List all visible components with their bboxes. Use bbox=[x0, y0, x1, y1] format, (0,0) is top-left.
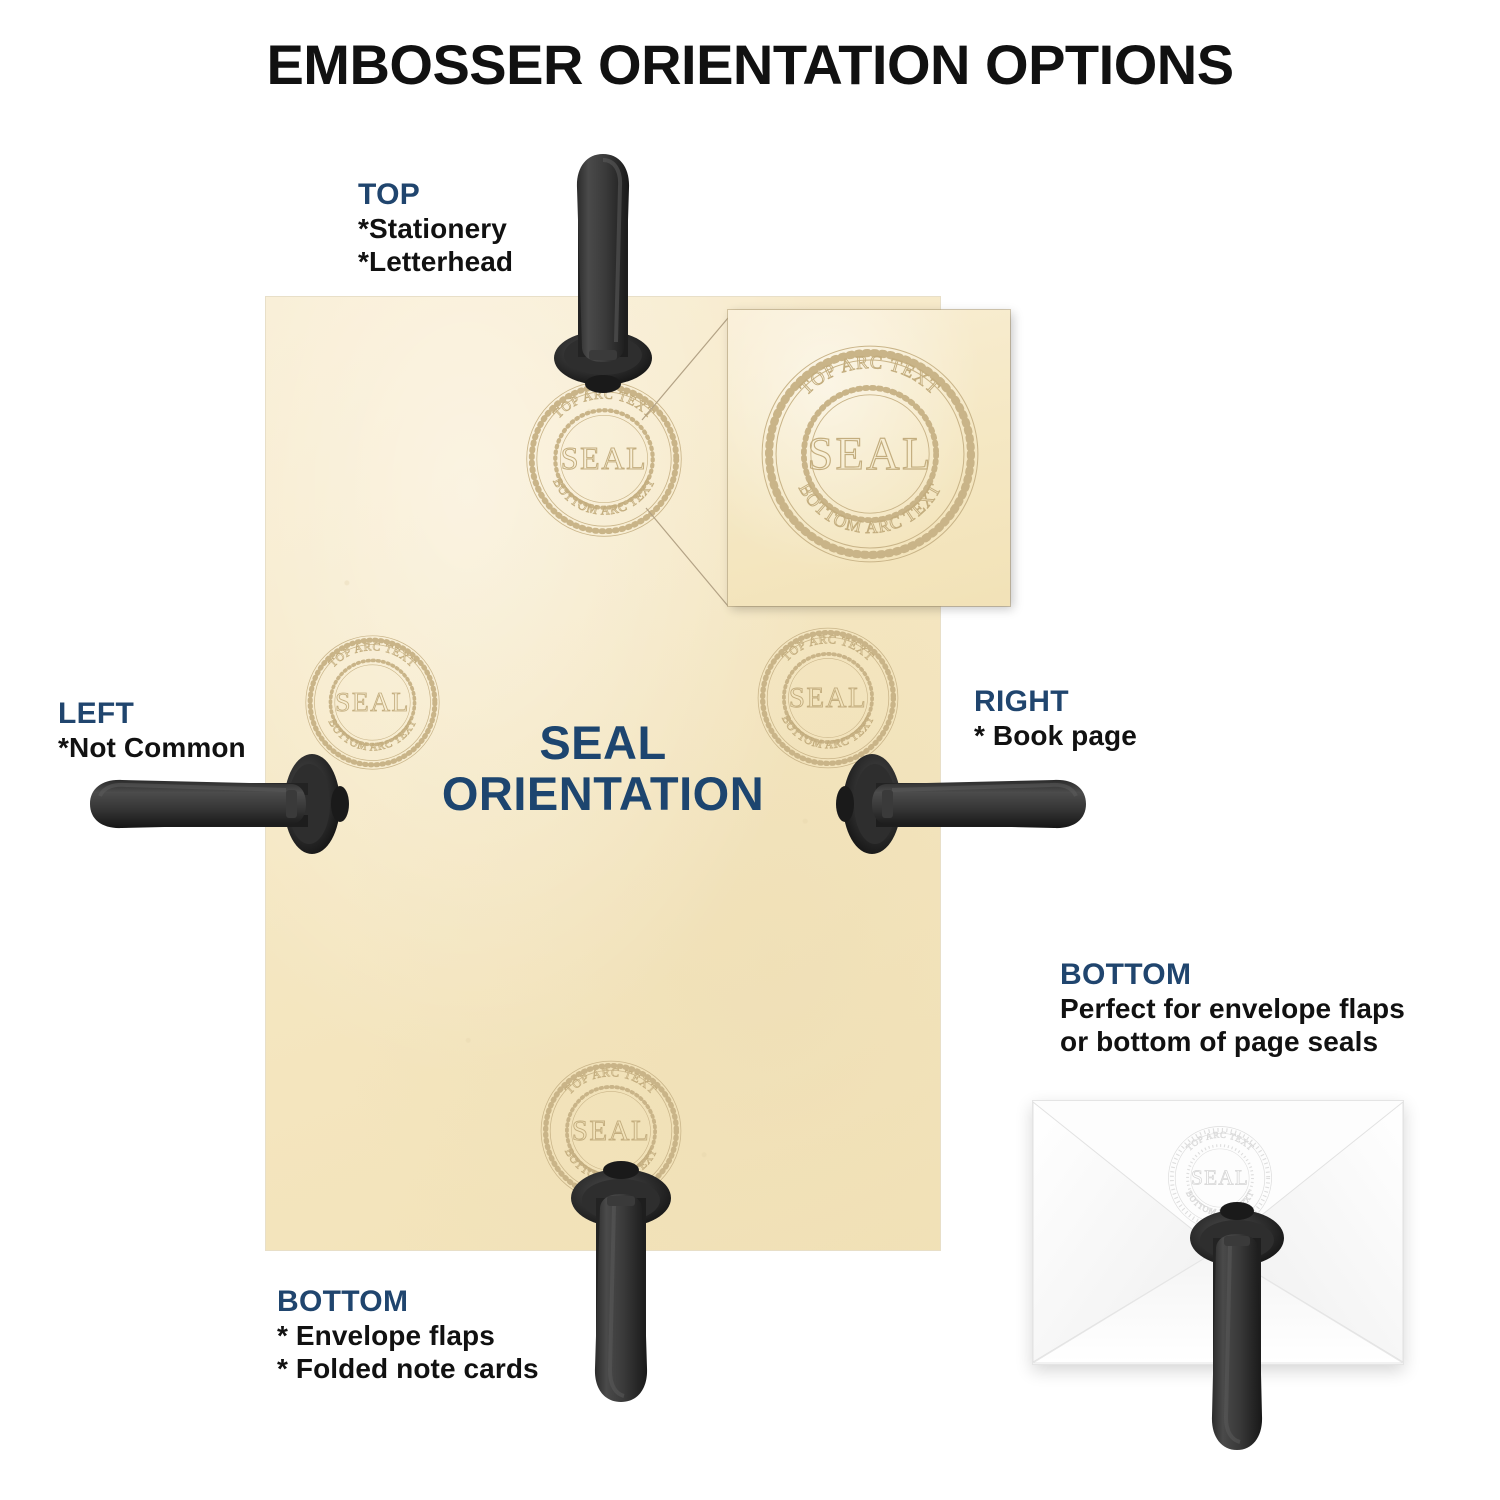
label-top-heading: TOP bbox=[358, 178, 513, 212]
infographic-canvas: EMBOSSER ORIENTATION OPTIONS TOP ARC TEX… bbox=[0, 0, 1500, 1500]
embosser-top[interactable] bbox=[544, 152, 662, 392]
seal-imprint-magnified: TOP ARC TEXT BOTTOM ARC TEXT SEAL bbox=[754, 338, 986, 570]
label-top-line-1: *Stationery bbox=[358, 212, 513, 245]
svg-text:BOTTOM ARC TEXT: BOTTOM ARC TEXT bbox=[795, 480, 945, 537]
label-bottom-envelope-line-1: Perfect for envelope flaps bbox=[1060, 992, 1405, 1025]
label-bottom-page-line-1: * Envelope flaps bbox=[277, 1319, 539, 1352]
svg-text:SEAL: SEAL bbox=[335, 686, 410, 717]
embosser-left[interactable] bbox=[86, 752, 348, 856]
label-top: TOP *Stationery *Letterhead bbox=[358, 178, 513, 278]
embosser-bottom-page[interactable] bbox=[562, 1150, 680, 1405]
label-bottom-envelope: BOTTOM Perfect for envelope flaps or bot… bbox=[1060, 958, 1405, 1058]
seal-center-text: SEAL bbox=[561, 441, 648, 476]
svg-text:SEAL: SEAL bbox=[1191, 1166, 1249, 1190]
seal-bottom-arc-text: BOTTOM ARC TEXT bbox=[550, 476, 658, 518]
label-bottom-page-heading: BOTTOM bbox=[277, 1285, 539, 1319]
label-right-heading: RIGHT bbox=[974, 685, 1137, 719]
label-bottom-envelope-heading: BOTTOM bbox=[1060, 958, 1405, 992]
page-title: EMBOSSER ORIENTATION OPTIONS bbox=[0, 32, 1500, 97]
svg-text:BOTTOM ARC TEXT: BOTTOM ARC TEXT bbox=[550, 476, 658, 518]
label-right: RIGHT * Book page bbox=[974, 685, 1137, 752]
label-right-line-1: * Book page bbox=[974, 719, 1137, 752]
label-top-line-2: *Letterhead bbox=[358, 245, 513, 278]
label-bottom-page: BOTTOM * Envelope flaps * Folded note ca… bbox=[277, 1285, 539, 1385]
magnified-seal-callout: TOP ARC TEXT BOTTOM ARC TEXT SEAL bbox=[728, 310, 1010, 606]
magnified-bottom-arc-text: BOTTOM ARC TEXT bbox=[795, 480, 945, 537]
sheet-center-line1: SEAL bbox=[266, 718, 940, 769]
seal-imprint-top: TOP ARC TEXT BOTTOM ARC TEXT SEAL bbox=[520, 375, 688, 543]
label-left-line-1: *Not Common bbox=[58, 731, 246, 764]
embosser-envelope[interactable] bbox=[1182, 1192, 1292, 1452]
svg-text:SEAL: SEAL bbox=[572, 1115, 650, 1147]
embosser-right[interactable] bbox=[842, 752, 1090, 856]
label-left-heading: LEFT bbox=[58, 697, 246, 731]
svg-text:SEAL: SEAL bbox=[789, 682, 867, 714]
magnified-center-text: SEAL bbox=[807, 429, 932, 480]
label-bottom-page-line-2: * Folded note cards bbox=[277, 1352, 539, 1385]
label-left: LEFT *Not Common bbox=[58, 697, 246, 764]
label-bottom-envelope-line-2: or bottom of page seals bbox=[1060, 1025, 1405, 1058]
